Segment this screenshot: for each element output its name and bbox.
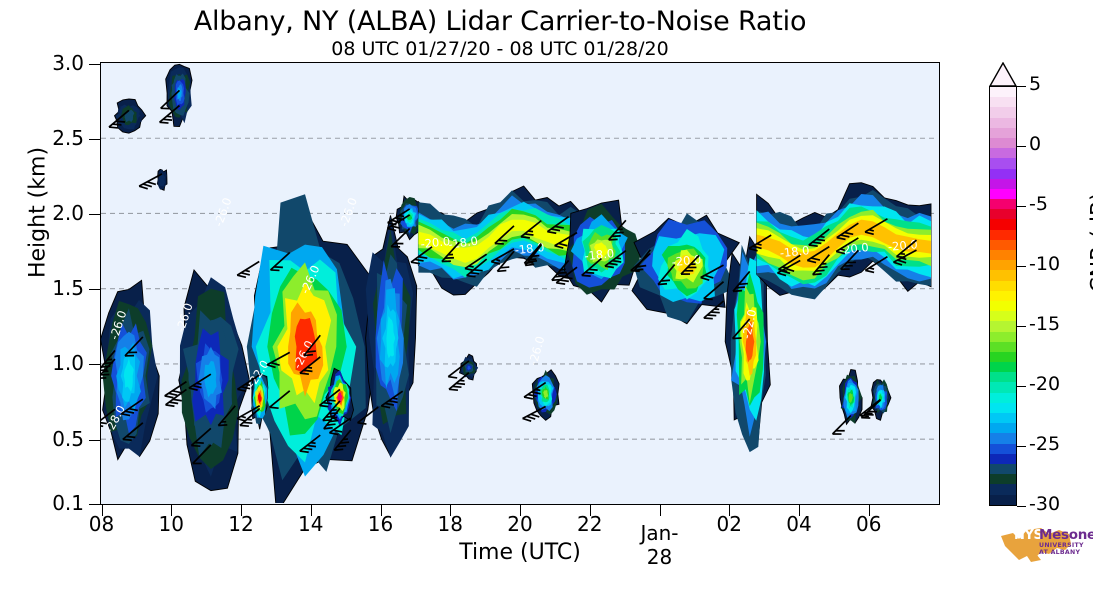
cnr-feature [157,169,167,190]
x-axis-label: Time (UTC) [100,540,940,565]
colorbar-tick-label-neg5: -5 [1029,193,1048,215]
cnr-feature [871,379,891,420]
y-tick-label-0-1: 0.1 [14,491,84,515]
colorbar-band [990,209,1016,219]
colorbar-band [990,372,1016,382]
y-tick [89,440,100,441]
cnr-feature [115,99,146,133]
colorbar-band [990,484,1016,494]
colorbar [989,86,1017,506]
colorbar-tick-label-0: 0 [1029,133,1041,155]
y-tick [89,139,100,140]
colorbar-tick [1017,86,1026,87]
colorbar-band [990,291,1016,301]
colorbar-tick [1017,266,1026,267]
colorbar-band [990,423,1016,433]
heatmap-canvas: -26.0-28.0-26.0-26.0-22.0-26.0-26.0-26.0… [101,63,938,503]
colorbar-tick-label-neg20: -20 [1029,373,1060,395]
colorbar-band [990,169,1016,179]
colorbar-tick-label-neg25: -25 [1029,433,1060,455]
colorbar-band [990,474,1016,484]
contour-label: -26.0 [211,196,234,229]
figure: Albany, NY (ALBA) Lidar Carrier-to-Noise… [0,0,1093,600]
colorbar-band [990,413,1016,423]
logo-mesonet-text: Mesonet [1039,527,1093,543]
colorbar-tick [1017,446,1026,447]
cnr-feature [366,216,417,458]
y-tick-label-0-5: 0.5 [14,427,84,451]
x-tick-label-20: 20 [490,512,550,536]
cnr-feature [179,270,250,491]
wind-barb [833,416,851,434]
x-tick-label-14: 14 [281,512,341,536]
x-tick-label-10: 10 [141,512,201,536]
colorbar-band [990,97,1016,107]
colorbar-band [990,342,1016,352]
colorbar-tick [1017,206,1026,207]
colorbar-extend-arrow [989,62,1017,87]
colorbar-tick [1017,326,1026,327]
colorbar-band [990,250,1016,260]
colorbar-band [990,158,1016,168]
colorbar-band [990,281,1016,291]
colorbar-band [990,454,1016,464]
x-tick-label-02: 02 [699,512,759,536]
colorbar-band [990,138,1016,148]
colorbar-band [990,107,1016,117]
colorbar-band [990,403,1016,413]
wind-barb [449,373,469,391]
colorbar-band [990,179,1016,189]
colorbar-band [990,240,1016,250]
colorbar-band [990,495,1016,505]
colorbar-band [990,219,1016,229]
colorbar-band [990,199,1016,209]
y-tick [89,364,100,365]
y-tick [89,289,100,290]
colorbar-band [990,444,1016,454]
colorbar-label: CNR (dB) [1088,143,1093,343]
colorbar-band [990,230,1016,240]
colorbar-band [990,393,1016,403]
x-tick-label-22: 22 [560,512,620,536]
contour-label: -26.0 [337,196,360,229]
page-title: Albany, NY (ALBA) Lidar Carrier-to-Noise… [0,6,1000,37]
colorbar-band [990,189,1016,199]
colorbar-band [990,270,1016,280]
x-tick-label-18: 18 [420,512,480,536]
y-tick [89,214,100,215]
wind-barb [237,261,259,277]
colorbar-tick [1017,146,1026,147]
x-tick-label-06: 06 [839,512,899,536]
x-tick [660,505,661,516]
colorbar-band [990,87,1016,97]
colorbar-band [990,382,1016,392]
colorbar-tick-label-neg15: -15 [1029,313,1060,335]
x-tick-label-Jan28: Jan-28 [630,521,690,569]
y-tick-label-1-5: 1.5 [14,276,84,300]
y-tick-label-3-0: 3.0 [14,51,84,75]
x-tick-label-04: 04 [769,512,829,536]
colorbar-band [990,301,1016,311]
colorbar-band [990,321,1016,331]
x-tick-label-08: 08 [72,512,132,536]
colorbar-band [990,332,1016,342]
colorbar-band [990,433,1016,443]
colorbar-tick-label-neg30: -30 [1029,493,1060,515]
cnr-feature [532,370,559,421]
x-tick-label-12: 12 [211,512,271,536]
colorbar-band [990,260,1016,270]
y-tick-label-1-0: 1.0 [14,351,84,375]
colorbar-band [990,311,1016,321]
colorbar-band [990,352,1016,362]
x-tick-label-16: 16 [351,512,411,536]
colorbar-tick-label-neg10: -10 [1029,253,1060,275]
page-subtitle: 08 UTC 01/27/20 - 08 UTC 01/28/20 [0,38,1000,60]
colorbar-band [990,148,1016,158]
y-tick [89,504,100,505]
cnr-feature [460,354,479,380]
colorbar-tick-label-5: 5 [1029,73,1041,95]
colorbar-band [990,362,1016,372]
y-tick-label-2-0: 2.0 [14,201,84,225]
colorbar-band [990,464,1016,474]
colorbar-band [990,128,1016,138]
colorbar-tick [1017,506,1026,507]
logo-university-text: UNIVERSITY AT ALBANY [1039,542,1093,556]
colorbar-tick [1017,386,1026,387]
y-tick-label-2-5: 2.5 [14,126,84,150]
y-tick [89,64,100,65]
contour-label: -26.0 [526,335,548,367]
plot-area: -26.0-28.0-26.0-26.0-22.0-26.0-26.0-26.0… [100,62,940,505]
colorbar-band [990,118,1016,128]
